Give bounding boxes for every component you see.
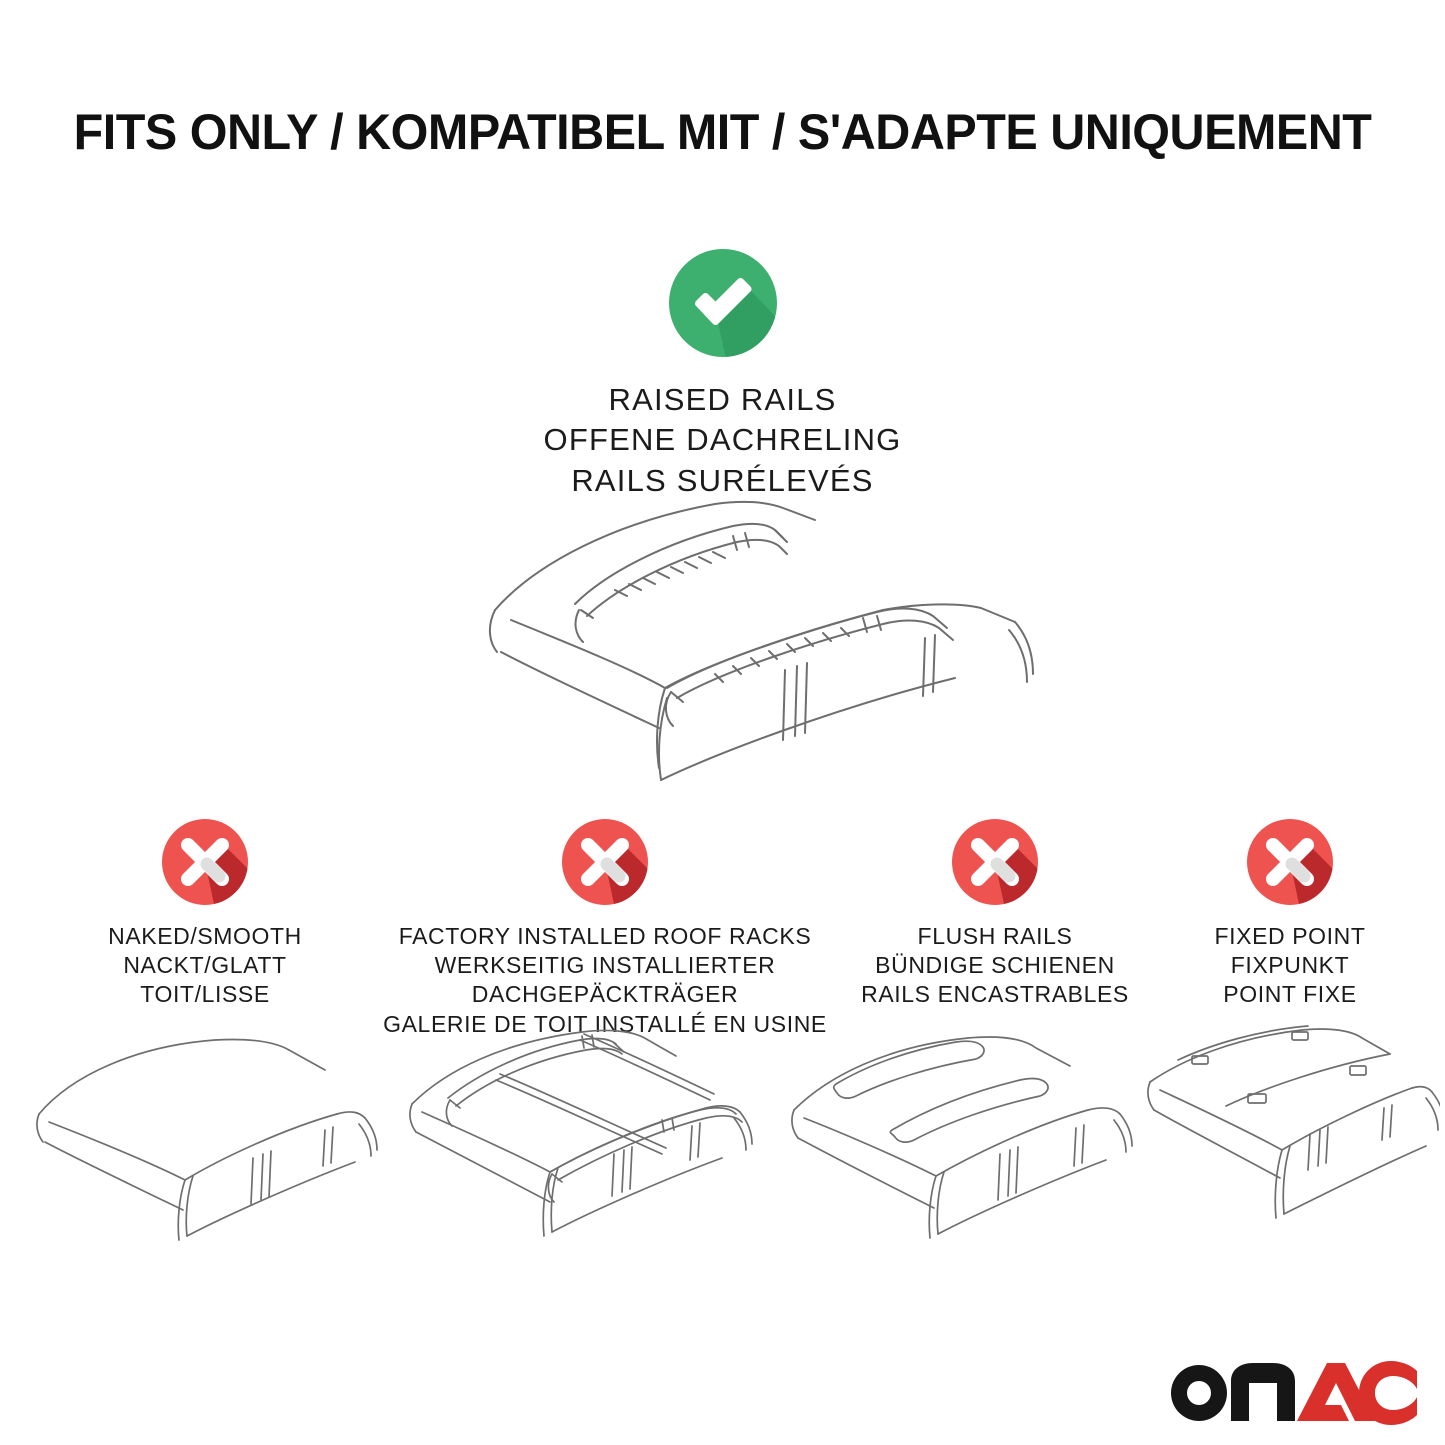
incompatible-item-fixed-point: FIXED POINT FIXPUNKT POINT FIXE: [1150, 818, 1430, 1010]
compatible-label-en: RAISED RAILS: [544, 380, 902, 420]
incompatible-item-flush-rails: FLUSH RAILS BÜNDIGE SCHIENEN RAILS ENCAS…: [845, 818, 1145, 1010]
label-en: FLUSH RAILS: [861, 922, 1129, 951]
label-de-1: WERKSEITIG INSTALLIERTER: [383, 951, 827, 980]
label-en: FIXED POINT: [1214, 922, 1365, 951]
car-roof-fixed-point-illustration: [1140, 1018, 1440, 1243]
car-roof-naked-smooth-illustration: [25, 1018, 380, 1243]
incompatible-artwork-row: [0, 1018, 1445, 1248]
label-de-2: DACHGEPÄCKTRÄGER: [383, 980, 827, 1009]
incompatible-labels-fixed-point: FIXED POINT FIXPUNKT POINT FIXE: [1214, 922, 1365, 1010]
label-fr: POINT FIXE: [1214, 980, 1365, 1009]
compatible-label-de: OFFENE DACHRELING: [544, 420, 902, 460]
check-circle-icon: [668, 248, 778, 358]
page-title: FITS ONLY / KOMPATIBEL MIT / S'ADAPTE UN…: [22, 103, 1424, 161]
omac-logo: [1165, 1355, 1420, 1427]
car-roof-flush-rails-illustration: [780, 1018, 1140, 1243]
label-en: FACTORY INSTALLED ROOF RACKS: [383, 922, 827, 951]
incompatible-item-naked-smooth: NAKED/SMOOTH NACKT/GLATT TOIT/LISSE: [45, 818, 365, 1010]
label-de: FIXPUNKT: [1214, 951, 1365, 980]
compatible-labels: RAISED RAILS OFFENE DACHRELING RAILS SUR…: [544, 380, 902, 501]
x-circle-icon: [1246, 818, 1334, 906]
label-fr: TOIT/LISSE: [108, 980, 302, 1009]
x-circle-icon: [561, 818, 649, 906]
compatible-section: RAISED RAILS OFFENE DACHRELING RAILS SUR…: [0, 248, 1445, 501]
x-circle-icon: [161, 818, 249, 906]
incompatible-labels-flush-rails: FLUSH RAILS BÜNDIGE SCHIENEN RAILS ENCAS…: [861, 922, 1129, 1010]
x-circle-icon: [951, 818, 1039, 906]
label-de: NACKT/GLATT: [108, 951, 302, 980]
incompatible-labels-naked-smooth: NAKED/SMOOTH NACKT/GLATT TOIT/LISSE: [108, 922, 302, 1010]
label-fr: RAILS ENCASTRABLES: [861, 980, 1129, 1009]
incompatible-section: NAKED/SMOOTH NACKT/GLATT TOIT/LISSE FACT: [0, 818, 1445, 1048]
car-roof-raised-rails-illustration: [415, 492, 1045, 802]
incompatible-item-factory-installed-roof-racks: FACTORY INSTALLED ROOF RACKS WERKSEITIG …: [370, 818, 840, 1039]
label-de: BÜNDIGE SCHIENEN: [861, 951, 1129, 980]
label-en: NAKED/SMOOTH: [108, 922, 302, 951]
car-roof-factory-rack-illustration: [400, 1018, 760, 1243]
